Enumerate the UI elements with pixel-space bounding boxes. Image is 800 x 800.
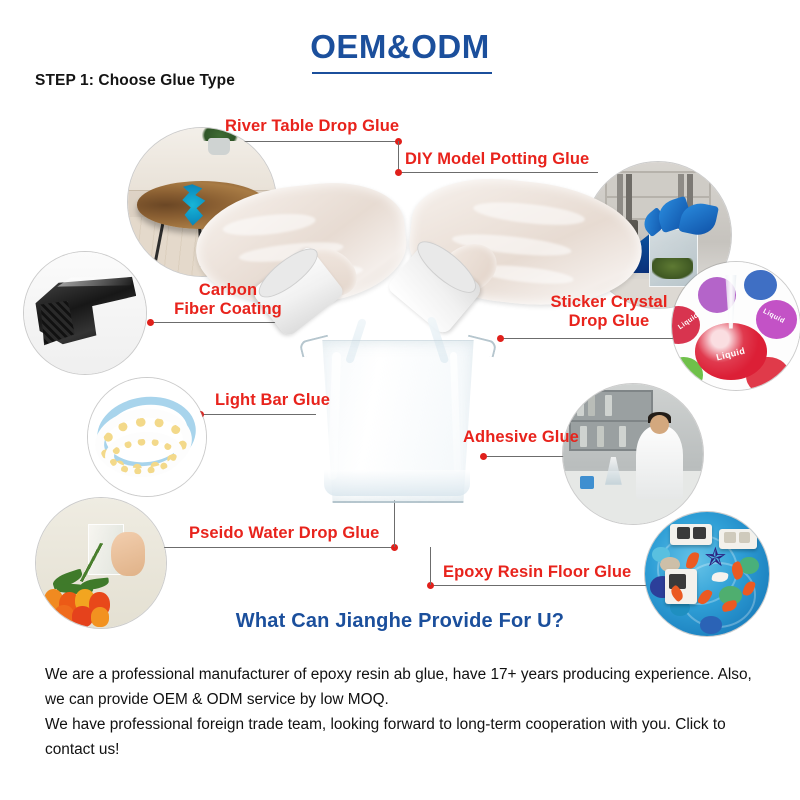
label-river-table-drop-glue: River Table Drop Glue [225,117,399,136]
connector-dot-carbon-fiber [147,319,154,326]
label-carbon-fiber-coating: Carbon Fiber Coating [148,281,308,319]
label-diy-model-potting-glue: DIY Model Potting Glue [405,150,589,169]
light-bar-photo [88,378,206,496]
title-underline [312,72,492,74]
label-epoxy-resin-floor-glue: Epoxy Resin Floor Glue [443,563,631,582]
footer-paragraph-1: We are a professional manufacturer of ep… [45,662,760,712]
connector-dot-adhesive [480,453,487,460]
label-adhesive-glue: Adhesive Glue [463,428,579,447]
adhesive-lab-photo [563,384,703,524]
beaker-base [324,470,470,496]
connector-epoxy-vertical [430,547,431,585]
label-carbon-fiber-line1: Carbon [148,281,308,300]
connector-dot-sticker-crystal [497,335,504,342]
footer-body: We are a professional manufacturer of ep… [45,662,760,762]
page-title: OEM&ODM [0,28,800,66]
label-pseido-water-drop-glue: Pseido Water Drop Glue [189,524,379,543]
connector-river-table-vertical [398,141,399,171]
product-image-sticker-crystal-drop-glue[interactable]: Liquid Liquid Liquid [672,262,800,390]
product-image-light-bar-glue[interactable] [88,378,206,496]
label-sticker-crystal-drop-glue: Sticker Crystal Drop Glue [528,293,690,331]
infographic-page: OEM&ODM STEP 1: Choose Glue Type [0,0,800,800]
connector-dot-diy-model [395,169,402,176]
pseido-water-photo [36,498,166,628]
product-image-adhesive-glue[interactable] [563,384,703,524]
footer-paragraph-2: We have professional foreign trade team,… [45,712,760,762]
connector-diy-model [398,172,598,173]
carbon-fiber-photo [24,252,146,374]
label-light-bar-glue: Light Bar Glue [215,391,330,410]
product-image-carbon-fiber-coating[interactable] [24,252,146,374]
connector-sticker-crystal [500,338,676,339]
starfish-icon: ✯ [705,544,727,570]
product-image-pseido-water-drop-glue[interactable] [36,498,166,628]
label-sticker-crystal-line2: Drop Glue [528,312,690,331]
sticker-crystal-photo: Liquid Liquid Liquid [672,262,800,390]
connector-pseido-vertical [394,500,395,547]
label-sticker-crystal-line1: Sticker Crystal [528,293,690,312]
step-label: STEP 1: Choose Glue Type [35,72,235,90]
footer-subheading: What Can Jianghe Provide For U? [0,610,800,633]
connector-pseido [160,547,395,548]
connector-light-bar [200,414,316,415]
connector-epoxy-floor [430,585,648,586]
label-carbon-fiber-line2: Fiber Coating [148,300,308,319]
